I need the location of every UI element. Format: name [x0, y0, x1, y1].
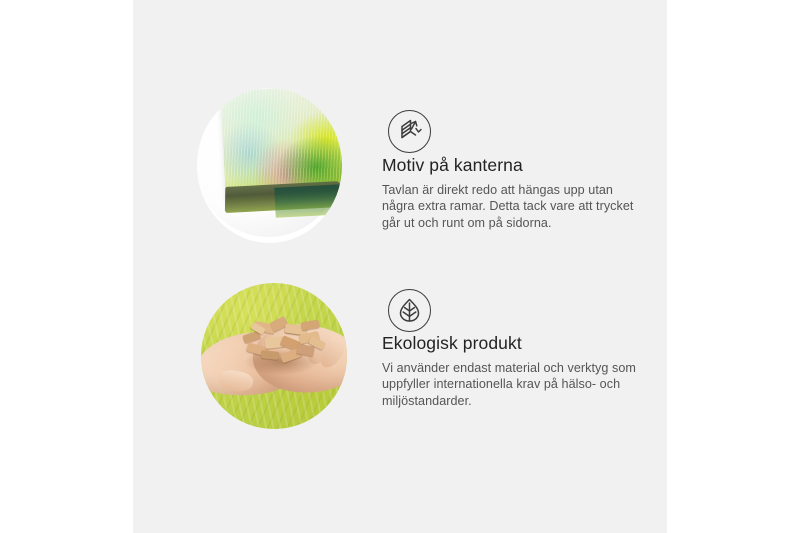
- canvas-wrapped-edges-icon: [388, 110, 431, 153]
- feature-text-edges: Motiv på kanterna Tavlan är direkt redo …: [382, 155, 644, 231]
- hands-holding-wood-chips-photo: [201, 283, 347, 429]
- canvas-side-edge-dark: [274, 184, 342, 218]
- content-panel: [133, 0, 667, 533]
- feature-title: Ekologisk produkt: [382, 333, 650, 354]
- canvas-corner-graphic: [223, 88, 342, 220]
- wood-chips-pile: [241, 319, 327, 367]
- canvas-corner-colorful-print-photo: [197, 88, 342, 243]
- product-feature-banner: Motiv på kanterna Tavlan är direkt redo …: [0, 0, 800, 533]
- feature-body: Tavlan är direkt redo att hängas upp uta…: [382, 182, 644, 231]
- feature-text-eco: Ekologisk produkt Vi använder endast mat…: [382, 333, 650, 409]
- leaf-icon: [388, 289, 431, 332]
- feature-title: Motiv på kanterna: [382, 155, 644, 176]
- feature-body: Vi använder endast material och verktyg …: [382, 360, 650, 409]
